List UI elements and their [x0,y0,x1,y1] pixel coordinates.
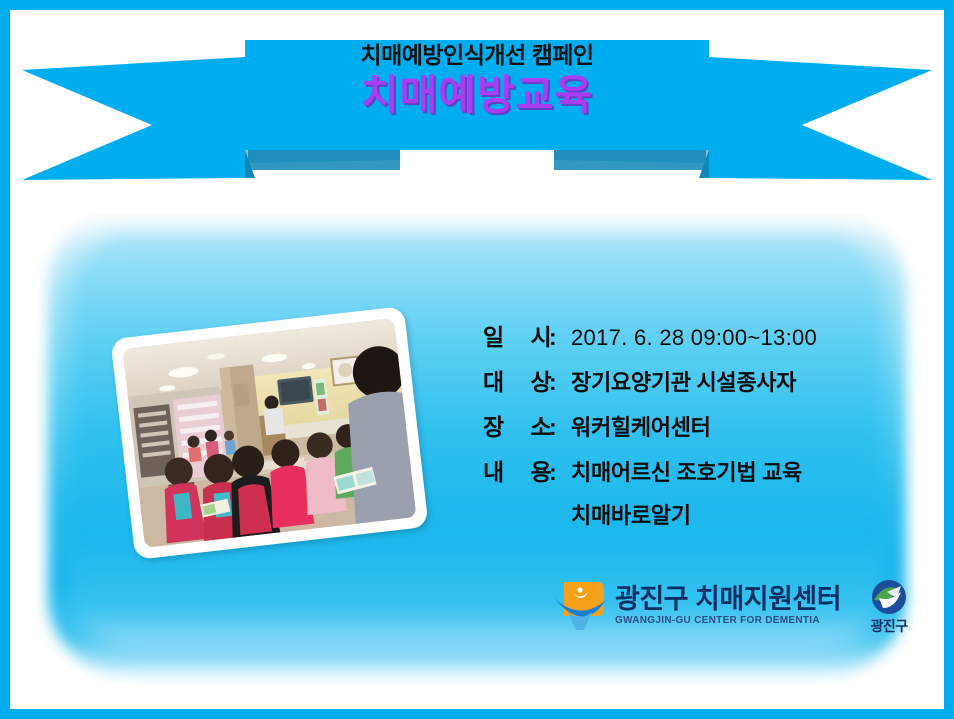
detail-value-content-line2: 치매바로알기 [571,498,817,530]
detail-colon-venue: : [549,414,571,441]
logo-text: 광진구 치매지원센터 GWANGJIN-GU CENTER FOR DEMENT… [615,585,841,626]
gwangjin-gu-emblem-icon [867,578,911,618]
detail-row-venue: 장 소 : 워커힐케어센터 [483,408,817,442]
detail-colon-date: : [549,324,571,351]
detail-label-venue: 장 소 [483,408,549,442]
emblem-label: 광진구 [870,619,907,633]
banner-title: 치매예방교육 [245,72,709,119]
poster-canvas: 치매예방인식개선 캠페인 치매예방교육 [0,0,954,719]
dementia-center-logo-icon [552,580,608,632]
organization-logo: 광진구 치매지원센터 GWANGJIN-GU CENTER FOR DEMENT… [552,578,919,633]
detail-value-audience: 장기요양기관 시설종사자 [571,365,796,397]
detail-value-date: 2017. 6. 28 09:00~13:00 [571,325,817,351]
logo-korean-name: 광진구 치매지원센터 [615,585,841,613]
detail-colon-content: : [549,459,571,486]
detail-row-content: 내 용 : 치매어르신 조호기법 교육 [483,453,817,487]
event-details: 일 시 : 2017. 6. 28 09:00~13:00 대 상 : 장기요양… [483,318,817,530]
detail-label-audience: 대 상 [483,363,549,397]
detail-colon-audience: : [549,369,571,396]
detail-row-date: 일 시 : 2017. 6. 28 09:00~13:00 [483,318,817,352]
gwangjin-gu-emblem: 광진구 [859,578,919,633]
logo-english-name: GWANGJIN-GU CENTER FOR DEMENTIA [615,615,841,626]
detail-row-audience: 대 상 : 장기요양기관 시설종사자 [483,363,817,397]
detail-label-date: 일 시 [483,318,549,352]
banner-subtitle: 치매예방인식개선 캠페인 [245,42,709,68]
detail-value-venue: 워커힐케어센터 [571,410,711,442]
detail-value-content: 치매어르신 조호기법 교육 [571,455,802,487]
banner-text: 치매예방인식개선 캠페인 치매예방교육 [245,42,709,120]
event-photo [123,318,417,548]
detail-label-content: 내 용 [483,453,549,487]
event-photo-frame [110,306,428,560]
